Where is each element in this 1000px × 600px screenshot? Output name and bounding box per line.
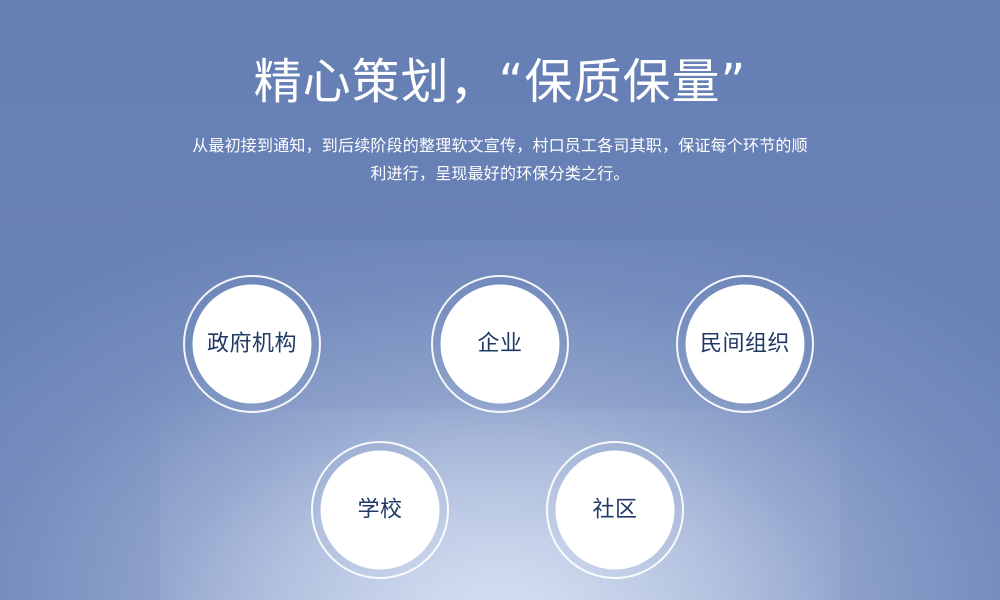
- page-title: 精心策划，“保质保量”: [0, 52, 1000, 112]
- banner-content: 精心策划，“保质保量” 从最初接到通知，到后续阶段的整理软文宣传，村口员工各司其…: [0, 0, 1000, 600]
- circle-node-enterprise[interactable]: 企业: [431, 275, 569, 413]
- circle-label: 民间组织: [700, 333, 790, 355]
- circle-label: 社区: [592, 499, 637, 521]
- circle-node-government[interactable]: 政府机构: [183, 275, 321, 413]
- circle-disc: 学校: [321, 451, 440, 570]
- page-subtitle-line-1: 从最初接到通知，到后续阶段的整理软文宣传，村口员工各司其职，保证每个环节的顺: [150, 132, 850, 160]
- circle-label: 学校: [357, 499, 402, 521]
- circle-label: 政府机构: [207, 333, 297, 355]
- page-subtitle-line-2: 利进行，呈现最好的环保分类之行。: [150, 160, 850, 188]
- page-subtitle: 从最初接到通知，到后续阶段的整理软文宣传，村口员工各司其职，保证每个环节的顺 利…: [150, 132, 850, 188]
- circle-disc: 企业: [441, 285, 560, 404]
- promo-banner: 精心策划，“保质保量” 从最初接到通知，到后续阶段的整理软文宣传，村口员工各司其…: [0, 0, 1000, 600]
- circle-disc: 社区: [556, 451, 675, 570]
- circle-disc: 政府机构: [193, 285, 312, 404]
- circle-node-school[interactable]: 学校: [311, 441, 449, 579]
- circle-node-community[interactable]: 社区: [546, 441, 684, 579]
- circle-disc: 民间组织: [686, 285, 805, 404]
- circle-label: 企业: [477, 333, 522, 355]
- circle-node-ngo[interactable]: 民间组织: [676, 275, 814, 413]
